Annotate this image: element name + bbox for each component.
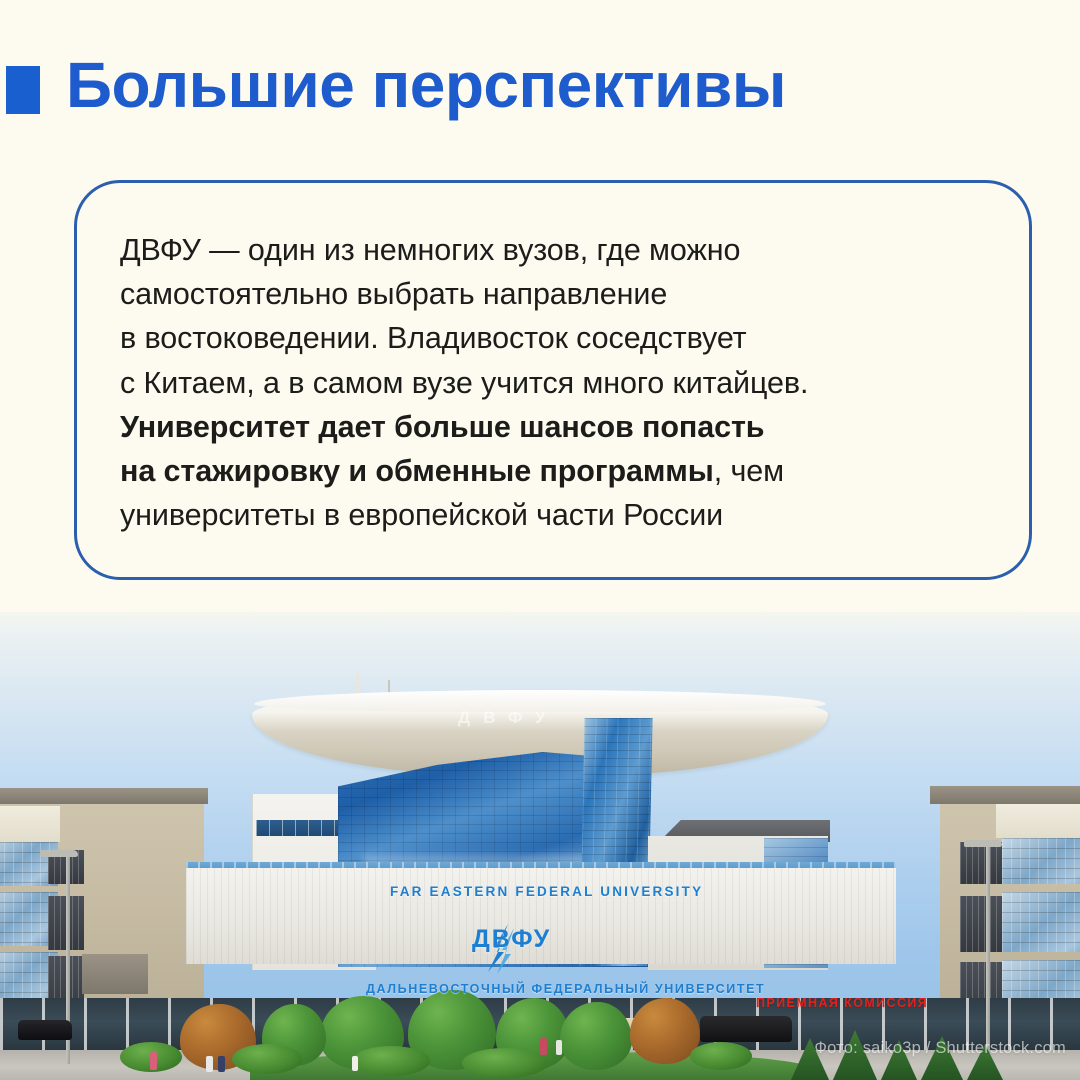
right-building-glass-a: [1002, 838, 1080, 884]
building-sign-english: FAR EASTERN FEDERAL UNIVERSITY: [390, 884, 703, 899]
quote-line-5: Университет дает больше шансов попасть: [120, 405, 970, 449]
roof-letters: ДВФУ: [458, 708, 558, 728]
person-3: [218, 1056, 225, 1072]
building-logo-text: ДВФУ: [472, 925, 551, 954]
quote-line-3: в востоковедении. Владивосток соседствуе…: [120, 316, 970, 360]
page-title: Большие перспективы: [66, 52, 786, 119]
poster: ДВФУ: [0, 0, 1080, 1080]
person-4: [352, 1056, 358, 1071]
street-lamp-head-right: [964, 840, 1002, 847]
building-sign-russian: ДАЛЬНЕВОСТОЧНЫЙ ФЕДЕРАЛЬНЫЙ УНИВЕРСИТЕТ: [366, 982, 765, 996]
right-building-glass-b: [1002, 892, 1080, 952]
photo-credit: Фото: saiko3p / Shutterstock.com: [814, 1039, 1066, 1058]
quote-line-6-rest: , чем: [714, 454, 784, 488]
header-area: Большие перспективы ДВФУ — один из немно…: [0, 0, 1080, 612]
person-5: [540, 1038, 547, 1055]
quote-line-6-bold: на стажировку и обменные программы: [120, 454, 714, 488]
parked-suv: [700, 1016, 792, 1042]
bush-3: [352, 1046, 430, 1076]
person-6: [556, 1040, 562, 1055]
quote-line-4: с Китаем, а в самом вузе учится много ки…: [120, 361, 970, 405]
right-building-roof: [930, 786, 1080, 804]
right-building-window-b: [960, 896, 1002, 952]
quote-line-1: ДВФУ — один из немногих вузов, где можно: [120, 228, 970, 272]
left-building-annex-roof: [82, 954, 148, 994]
left-building-roof: [0, 788, 208, 804]
left-building-cream-band: [0, 806, 60, 842]
person-2: [206, 1056, 213, 1072]
right-building-cream-band: [996, 804, 1080, 838]
quotation-mark-icon: [0, 52, 48, 132]
bush-4: [462, 1048, 548, 1078]
street-lamp-post-right: [986, 842, 990, 1070]
person-1: [150, 1052, 157, 1070]
parked-car-left: [18, 1020, 72, 1040]
quote-line-7: университеты в европейской части России: [120, 493, 970, 537]
right-building-window-a: [960, 842, 1002, 884]
admissions-sign: ПРИЕМНАЯ КОМИССИЯ: [756, 996, 928, 1010]
roof-mast: [356, 674, 359, 694]
bush-2: [232, 1044, 302, 1074]
quote-line-2: самостоятельно выбрать направление: [120, 272, 970, 316]
quote-line-6: на стажировку и обменные программы, чем: [120, 449, 970, 493]
left-wing-windows-1: [256, 820, 338, 836]
quote-text: ДВФУ — один из немногих вузов, где можно…: [120, 228, 970, 537]
tree-6: [560, 1002, 632, 1070]
bush-5: [690, 1042, 752, 1070]
street-lamp-head-left: [40, 850, 78, 857]
